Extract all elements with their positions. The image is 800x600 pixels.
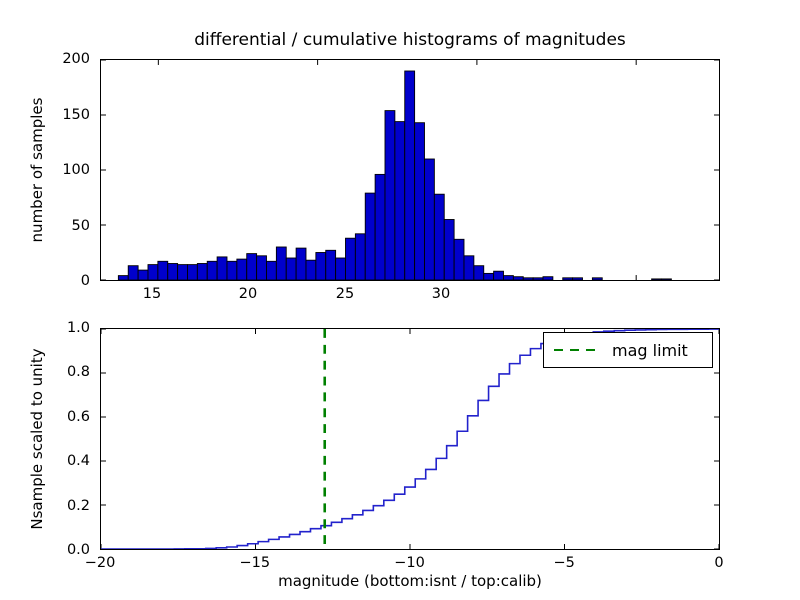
histogram-bar	[227, 261, 237, 280]
histogram-bar	[405, 71, 415, 280]
histogram-bar	[592, 278, 602, 280]
bottom-xtick-minus10: −10	[394, 555, 425, 571]
legend-label-mag-limit: mag limit	[612, 341, 688, 360]
histogram-bar	[266, 261, 276, 280]
histogram-bar	[573, 278, 583, 280]
histogram-bar	[474, 266, 484, 280]
histogram-bar	[326, 250, 336, 280]
histogram-bar	[247, 254, 257, 280]
bottom-xtick-minus15: −15	[239, 555, 270, 571]
histogram-bar	[158, 261, 168, 280]
bottom-xaxis-label: magnitude (bottom:isnt / top:calib)	[278, 572, 542, 590]
top-xtick-15: 15	[143, 286, 161, 302]
histogram-bar	[503, 276, 513, 280]
histogram-bar	[296, 248, 306, 280]
bottom-xtick-0: 0	[714, 555, 723, 571]
histogram-bar	[523, 278, 533, 280]
top-ytick-50: 50	[40, 218, 90, 234]
histogram-bar	[168, 264, 178, 281]
histogram-bar	[662, 279, 672, 280]
top-ytick-150: 150	[40, 107, 90, 123]
histogram-bar	[464, 256, 474, 280]
histogram-bar	[316, 253, 326, 281]
top-xtick-20: 20	[239, 286, 257, 302]
top-ytick-200: 200	[40, 51, 90, 67]
histogram-bar	[276, 247, 286, 280]
bottom-ytick-0.8: 0.8	[40, 364, 90, 380]
top-xtick-25: 25	[336, 286, 354, 302]
histogram-bar	[217, 257, 227, 280]
figure-title: differential / cumulative histograms of …	[100, 30, 720, 50]
top-histogram-plot-area	[101, 60, 719, 280]
top-xtick-30: 30	[432, 286, 450, 302]
bottom-xtick-minus5: −5	[554, 555, 575, 571]
histogram-bar	[365, 193, 375, 280]
histogram-bar	[178, 265, 188, 280]
histogram-bar	[513, 277, 523, 280]
histogram-bar	[138, 270, 148, 280]
histogram-bar	[148, 265, 158, 280]
figure-canvas: differential / cumulative histograms of …	[0, 0, 800, 600]
histogram-bar	[494, 271, 504, 280]
histogram-bar	[484, 273, 494, 280]
top-yaxis-label: number of samples	[28, 98, 46, 243]
histogram-bar	[336, 258, 346, 280]
histogram-bar	[197, 264, 207, 281]
histogram-bar	[543, 277, 553, 280]
histogram-bar	[257, 256, 267, 280]
legend[interactable]: mag limit	[543, 332, 713, 368]
histogram-bar	[375, 174, 385, 280]
bottom-xtick-minus20: −20	[85, 555, 116, 571]
top-ytick-100: 100	[40, 162, 90, 178]
histogram-bar	[395, 122, 405, 280]
histogram-bar	[118, 276, 128, 280]
histogram-bar	[355, 234, 365, 280]
histogram-bar	[454, 239, 464, 280]
histogram-bar	[207, 261, 217, 280]
histogram-bar	[415, 123, 425, 280]
bottom-ytick-0.2: 0.2	[40, 498, 90, 514]
bottom-ytick-0.4: 0.4	[40, 453, 90, 469]
top-ytick-0: 0	[40, 273, 90, 289]
histogram-bar	[385, 111, 395, 280]
histogram-bar	[434, 194, 444, 280]
histogram-bar	[652, 279, 662, 280]
histogram-bar	[533, 278, 543, 280]
histogram-bar	[128, 266, 138, 280]
bottom-ytick-1.0: 1.0	[40, 320, 90, 336]
histogram-bar	[237, 259, 247, 280]
legend-dashed-line-icon	[554, 349, 596, 351]
bottom-yaxis-label: Nsample scaled to unity	[28, 348, 46, 529]
histogram-bar	[345, 238, 355, 280]
histogram-bar	[306, 260, 316, 280]
histogram-bar	[444, 220, 454, 281]
bottom-ytick-0.0: 0.0	[40, 542, 90, 558]
histogram-bar	[424, 159, 434, 280]
histogram-bar	[286, 258, 296, 280]
bottom-ytick-0.6: 0.6	[40, 409, 90, 425]
histogram-bar	[563, 278, 573, 280]
top-histogram-axes	[100, 59, 720, 281]
histogram-bar	[187, 265, 197, 280]
